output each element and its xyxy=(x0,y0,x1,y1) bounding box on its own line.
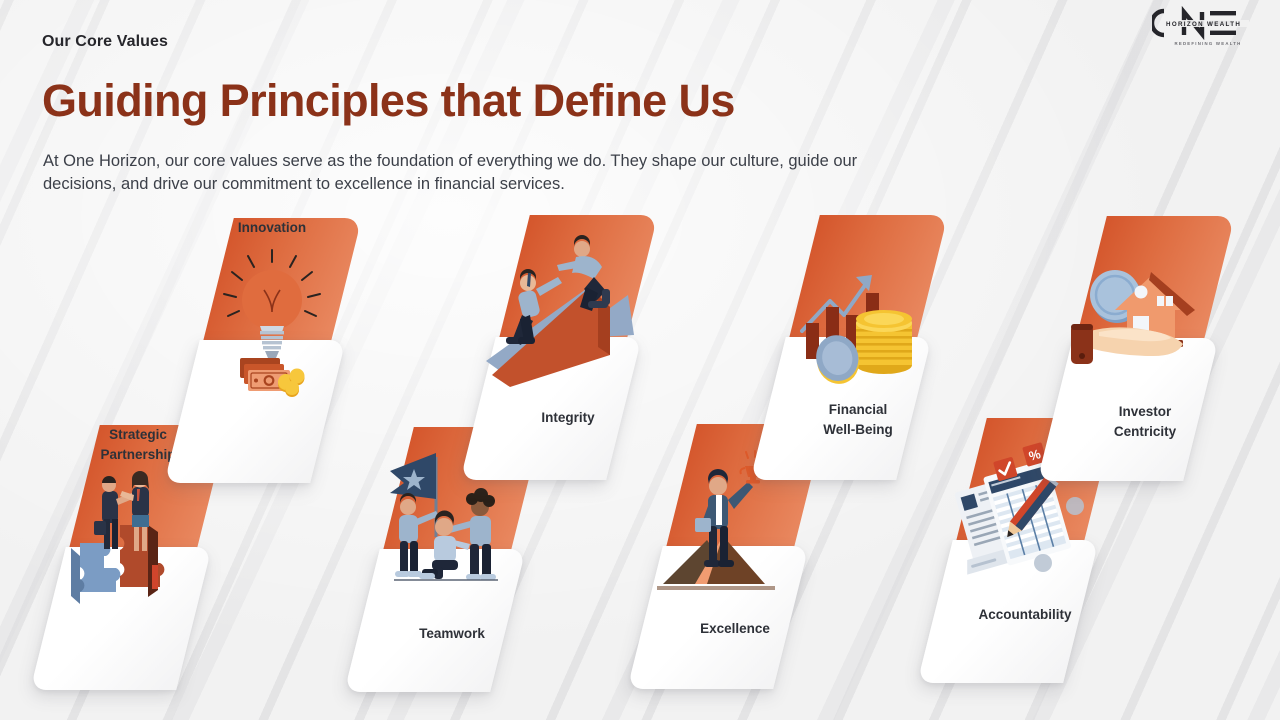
slide-canvas: HORIZON WEALTH REDEFINING WEALTH Our Cor… xyxy=(0,0,1280,720)
logo-name-text: HORIZON WEALTH xyxy=(1166,21,1241,28)
page-title: Guiding Principles that Define Us xyxy=(42,78,735,123)
card-panel xyxy=(344,549,526,692)
eyebrow-label: Our Core Values xyxy=(42,33,168,51)
value-card-innovation[interactable]: Innovation xyxy=(182,218,362,483)
value-card-integrity[interactable]: Integrity xyxy=(478,215,658,480)
card-panel xyxy=(460,337,642,480)
card-panel xyxy=(1037,338,1219,481)
value-card-financial-well-being[interactable]: Financial Well-Being xyxy=(768,215,948,480)
one-horizon-wealth-logo: HORIZON WEALTH REDEFINING WEALTH xyxy=(1152,5,1264,49)
intro-paragraph: At One Horizon, our core values serve as… xyxy=(43,150,893,197)
logo-tagline-text: REDEFINING WEALTH xyxy=(1174,41,1241,46)
card-panel xyxy=(627,546,809,689)
card-panel xyxy=(917,540,1099,683)
card-panel xyxy=(164,340,346,483)
value-card-investor-centricity[interactable]: Investor Centricity xyxy=(1055,216,1235,481)
card-panel xyxy=(750,337,932,480)
card-panel xyxy=(30,547,212,690)
